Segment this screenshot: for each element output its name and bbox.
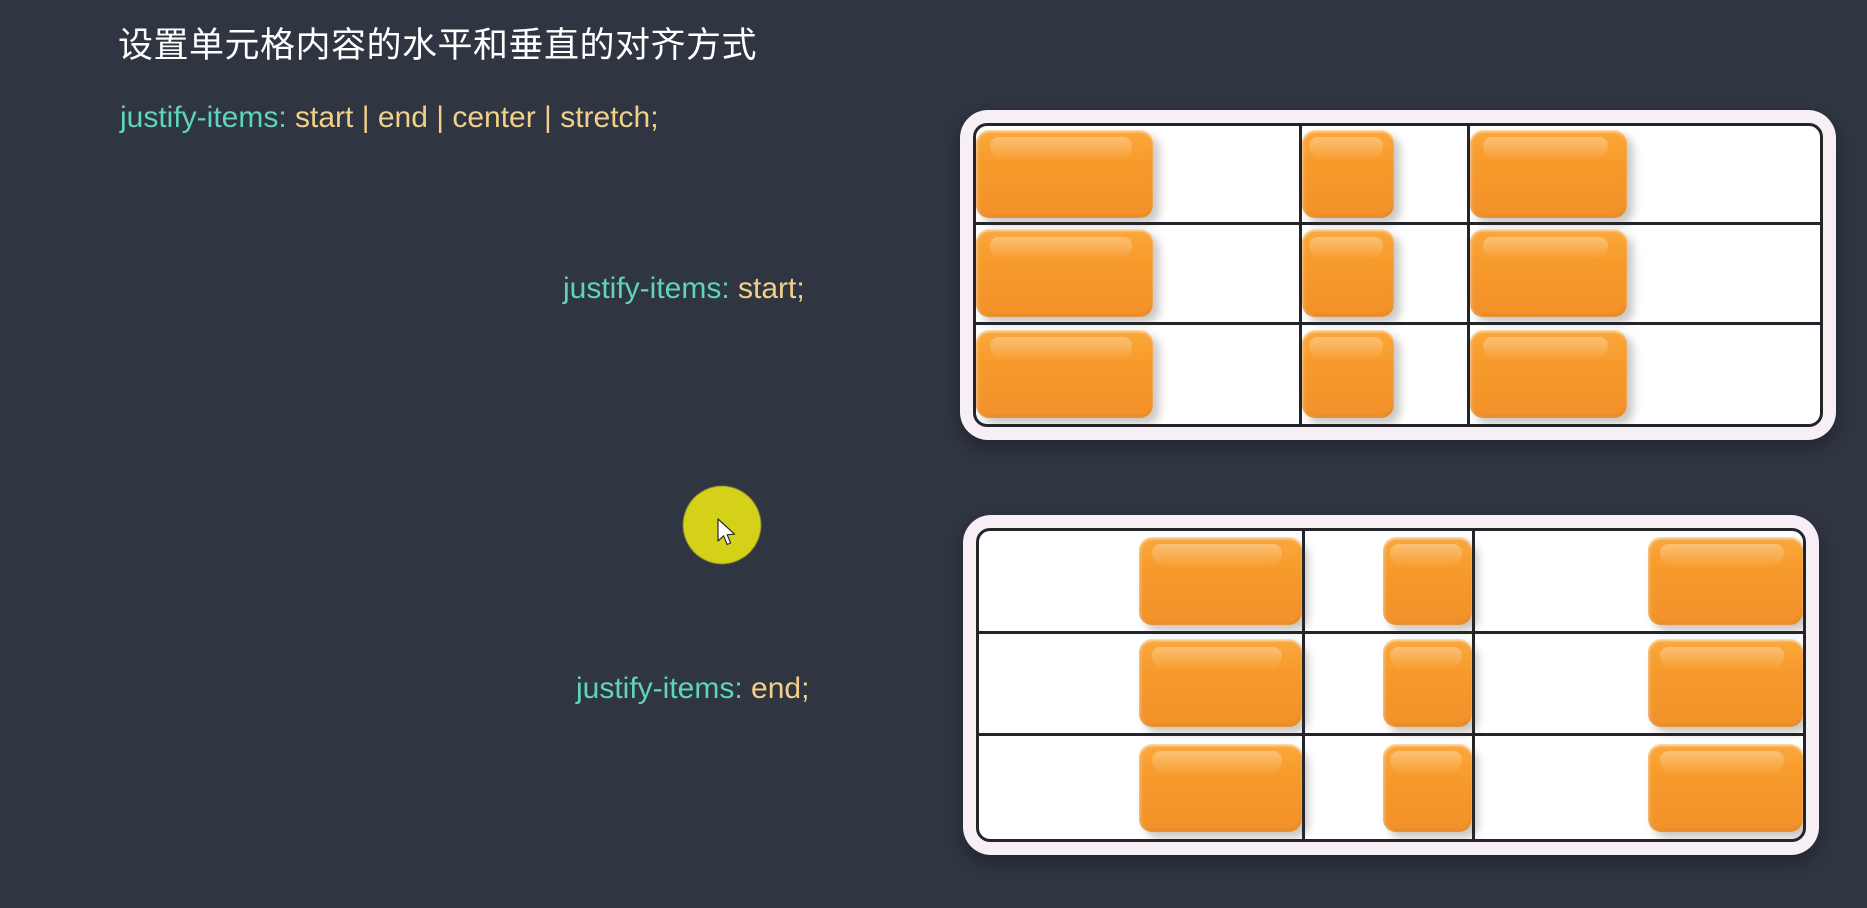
syntax-property-values: start | end | center | stretch; bbox=[287, 101, 659, 134]
label-start-property: justify-items: bbox=[563, 272, 730, 305]
grid-cell bbox=[1302, 126, 1471, 225]
syntax-property-name: justify-items: bbox=[120, 101, 287, 134]
grid-demo-justify-items-end bbox=[963, 515, 1819, 855]
grid-item bbox=[1383, 744, 1472, 832]
label-end-property: justify-items: bbox=[576, 672, 743, 705]
grid-cell bbox=[1475, 634, 1803, 737]
grid-cell bbox=[976, 225, 1302, 324]
grid-item bbox=[1302, 130, 1394, 218]
grid-cell bbox=[1305, 531, 1476, 634]
label-justify-items-end: justify-items: end; bbox=[576, 669, 809, 708]
grid-item bbox=[1139, 639, 1302, 727]
grid-cell bbox=[979, 531, 1305, 634]
grid-item bbox=[1383, 639, 1472, 727]
grid-item bbox=[976, 130, 1153, 218]
grid-cell bbox=[976, 325, 1302, 424]
grid-item bbox=[1470, 130, 1627, 218]
grid-cell bbox=[1475, 736, 1803, 839]
grid-cell bbox=[1305, 634, 1476, 737]
grid-cell bbox=[1475, 531, 1803, 634]
grid-container-end bbox=[976, 528, 1806, 842]
grid-item bbox=[1648, 537, 1803, 625]
grid-cell bbox=[1470, 225, 1820, 324]
grid-item bbox=[1139, 537, 1302, 625]
grid-item bbox=[1302, 229, 1394, 317]
page-title: 设置单元格内容的水平和垂直的对齐方式 bbox=[118, 22, 757, 69]
grid-cell bbox=[1302, 325, 1471, 424]
label-justify-items-start: justify-items: start; bbox=[563, 269, 805, 308]
grid-cell bbox=[1470, 325, 1820, 424]
grid-item bbox=[1139, 744, 1302, 832]
grid-demo-justify-items-start bbox=[960, 110, 1836, 440]
grid-cell bbox=[979, 736, 1305, 839]
grid-container-start bbox=[973, 123, 1823, 427]
grid-item bbox=[1470, 229, 1627, 317]
grid-item bbox=[976, 229, 1153, 317]
grid-cell bbox=[1302, 225, 1471, 324]
syntax-declaration: justify-items: start | end | center | st… bbox=[120, 98, 659, 137]
grid-cell bbox=[1305, 736, 1476, 839]
label-start-value: start; bbox=[730, 272, 805, 305]
mouse-pointer-icon bbox=[717, 518, 739, 548]
grid-item bbox=[1302, 330, 1394, 418]
grid-cell bbox=[976, 126, 1302, 225]
grid-item bbox=[1383, 537, 1472, 625]
grid-cell bbox=[979, 634, 1305, 737]
grid-item bbox=[976, 330, 1153, 418]
grid-item bbox=[1648, 744, 1803, 832]
grid-cell bbox=[1470, 126, 1820, 225]
grid-item bbox=[1470, 330, 1627, 418]
label-end-value: end; bbox=[743, 672, 810, 705]
grid-item bbox=[1648, 639, 1803, 727]
